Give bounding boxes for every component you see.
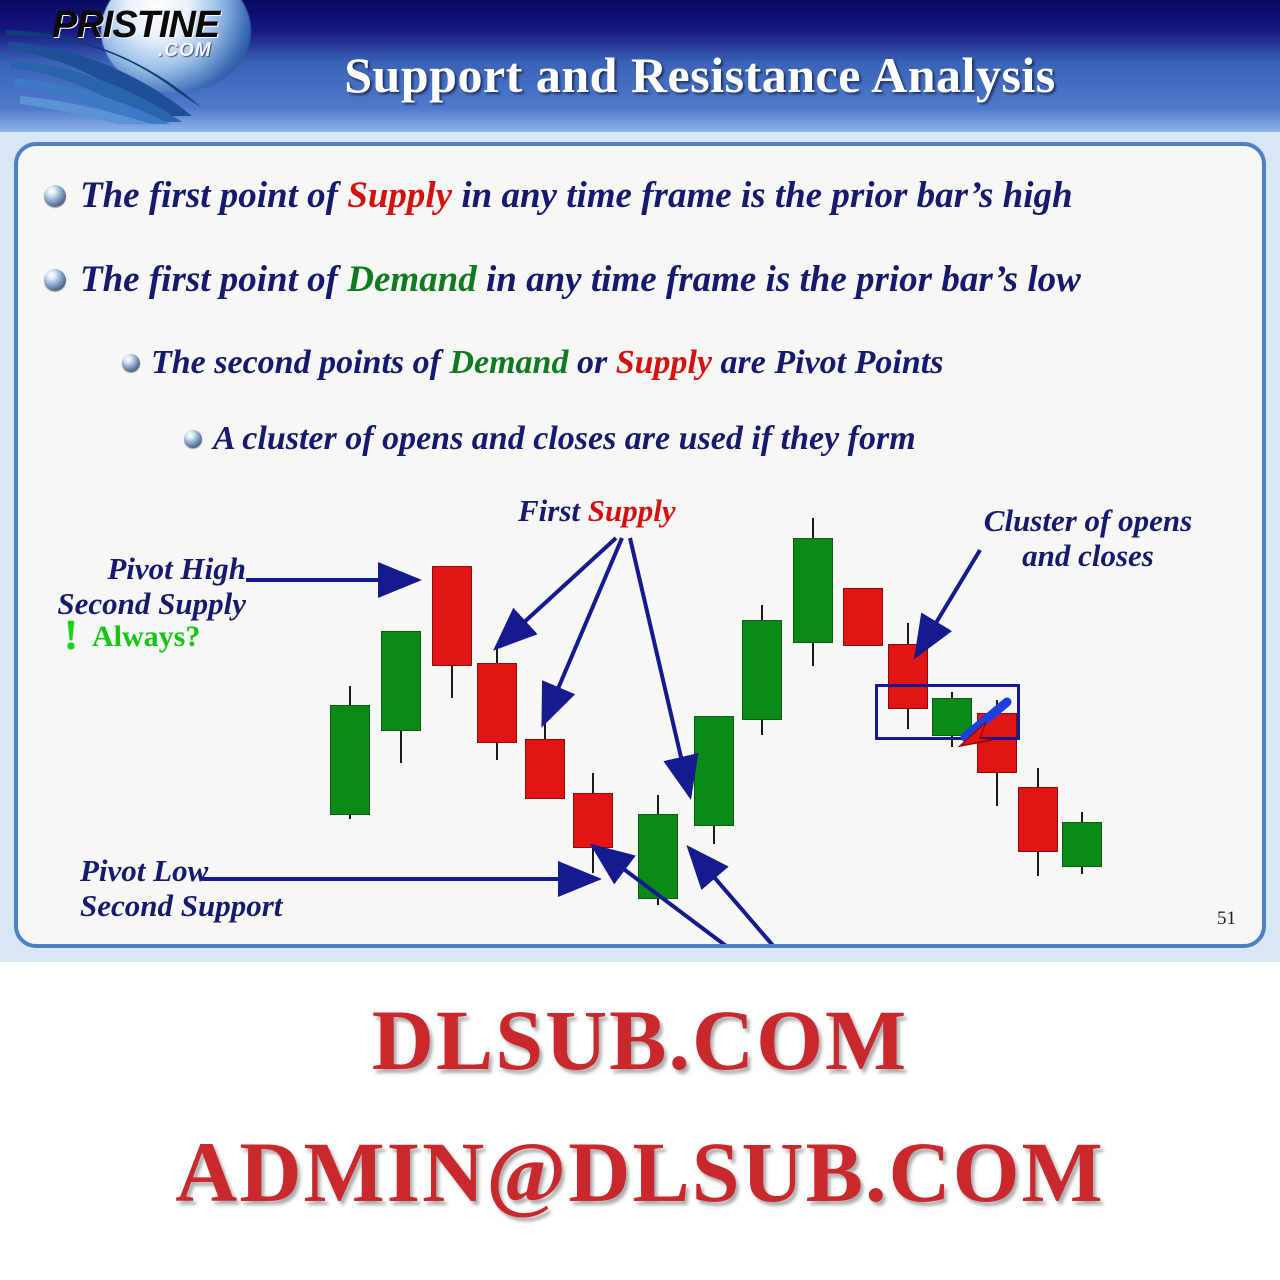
candle-15: [1018, 768, 1058, 876]
candle-8: [694, 716, 734, 844]
slide-header: PRISTINE .COM Support and Resistance Ana…: [0, 0, 1280, 132]
arrow-first-supply-3: [630, 538, 690, 796]
candle-7: [638, 795, 678, 905]
arrow-first-supply-2: [543, 538, 622, 724]
candle-10: [793, 518, 833, 666]
presentation-slide: PRISTINE .COM Support and Resistance Ana…: [0, 0, 1280, 962]
candle-body: [742, 620, 782, 720]
candle-body: [381, 631, 421, 731]
label-pivot-low: Pivot LowSecond Support: [80, 854, 282, 923]
candle-body: [432, 566, 472, 666]
content-panel: The first point of Supply in any time fr…: [14, 142, 1266, 948]
candle-16: [1062, 812, 1102, 874]
arrow-first-demand-2: [593, 846, 838, 948]
candle-11: [843, 588, 883, 646]
label-pivot-high: Pivot HighSecond Supply: [38, 552, 246, 621]
watermark-site: DLSUB.COM: [0, 990, 1280, 1090]
candle-body: [330, 705, 370, 815]
logo-domain-suffix: .COM: [158, 40, 212, 62]
candle-2: [381, 631, 421, 763]
slide-stage: PRISTINE .COM Support and Resistance Ana…: [0, 0, 1280, 1280]
candle-9: [742, 605, 782, 735]
candle-body: [573, 793, 613, 848]
arrow-first-demand-1: [689, 848, 844, 948]
candle-4: [477, 645, 517, 760]
watermark-email-text: ADMIN@DLSUB.COM: [175, 1124, 1104, 1220]
page-number: 51: [1217, 908, 1236, 930]
candle-body: [793, 538, 833, 643]
page-title: Support and Resistance Analysis: [250, 46, 1150, 104]
candle-body: [694, 716, 734, 826]
label-first-supply: First Supply: [518, 494, 676, 529]
cluster-highlight-box: [875, 684, 1020, 740]
candle-1: [330, 686, 370, 819]
candle-5: [525, 718, 565, 799]
candle-body: [525, 739, 565, 799]
candle-body: [1062, 822, 1102, 867]
candle-body: [638, 814, 678, 899]
arrow-first-supply-1: [496, 538, 616, 648]
watermark-site-text: DLSUB.COM: [372, 992, 908, 1088]
candle-3: [432, 566, 472, 698]
candle-body: [843, 588, 883, 646]
pristine-logo: PRISTINE .COM: [6, 0, 256, 124]
label-cluster: Cluster of opensand closes: [928, 504, 1248, 573]
candle-body: [477, 663, 517, 743]
candlestick-chart: Pivot HighSecond Supply Pivot LowSecond …: [18, 146, 1266, 948]
watermark-email: ADMIN@DLSUB.COM: [0, 1122, 1280, 1222]
candle-body: [1018, 787, 1058, 852]
candle-6: [573, 773, 613, 873]
